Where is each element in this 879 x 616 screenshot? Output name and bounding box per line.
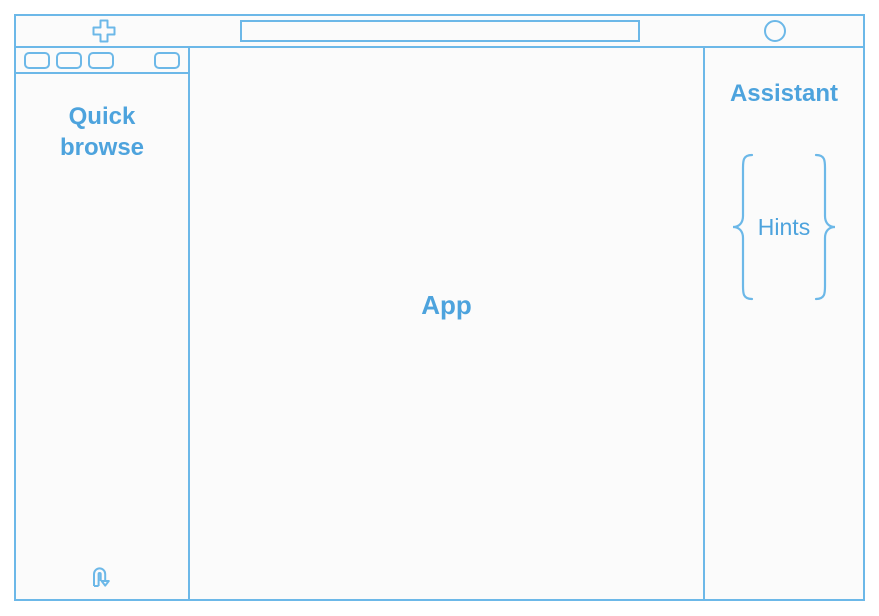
u-turn-arrow-icon[interactable] bbox=[87, 561, 117, 591]
app-canvas: App bbox=[190, 48, 705, 601]
window-body: Quick browse App bbox=[14, 48, 865, 601]
left-brace-icon bbox=[730, 152, 756, 302]
plus-icon[interactable] bbox=[91, 18, 117, 44]
quick-browse-sidebar: Quick browse bbox=[14, 48, 190, 601]
circle-avatar-icon[interactable] bbox=[764, 20, 786, 42]
sidebar-title-line-2: browse bbox=[24, 133, 180, 164]
right-brace-icon bbox=[812, 152, 838, 302]
hints-label: Hints bbox=[758, 214, 810, 241]
assistant-title: Assistant bbox=[705, 80, 863, 108]
sidebar-footer bbox=[16, 561, 188, 591]
hints-block: Hints bbox=[705, 152, 863, 302]
header-right-slot bbox=[687, 16, 863, 46]
sidebar-tabstrip bbox=[16, 48, 188, 74]
tab-chip-right[interactable] bbox=[154, 52, 180, 69]
browser-window: Quick browse App bbox=[14, 14, 865, 601]
sidebar-title-line-1: Quick bbox=[24, 102, 180, 133]
tab-chip-3[interactable] bbox=[88, 52, 114, 69]
tab-chip-2[interactable] bbox=[56, 52, 82, 69]
header-center-slot bbox=[192, 16, 687, 46]
address-bar-input[interactable] bbox=[240, 20, 640, 42]
assistant-panel: Assistant Hints bbox=[705, 48, 865, 601]
header-left-slot bbox=[16, 16, 192, 46]
browser-header bbox=[14, 14, 865, 48]
app-title: App bbox=[421, 290, 472, 321]
sidebar-content: Quick browse bbox=[16, 74, 188, 599]
tab-chip-1[interactable] bbox=[24, 52, 50, 69]
sidebar-title: Quick browse bbox=[16, 102, 188, 163]
